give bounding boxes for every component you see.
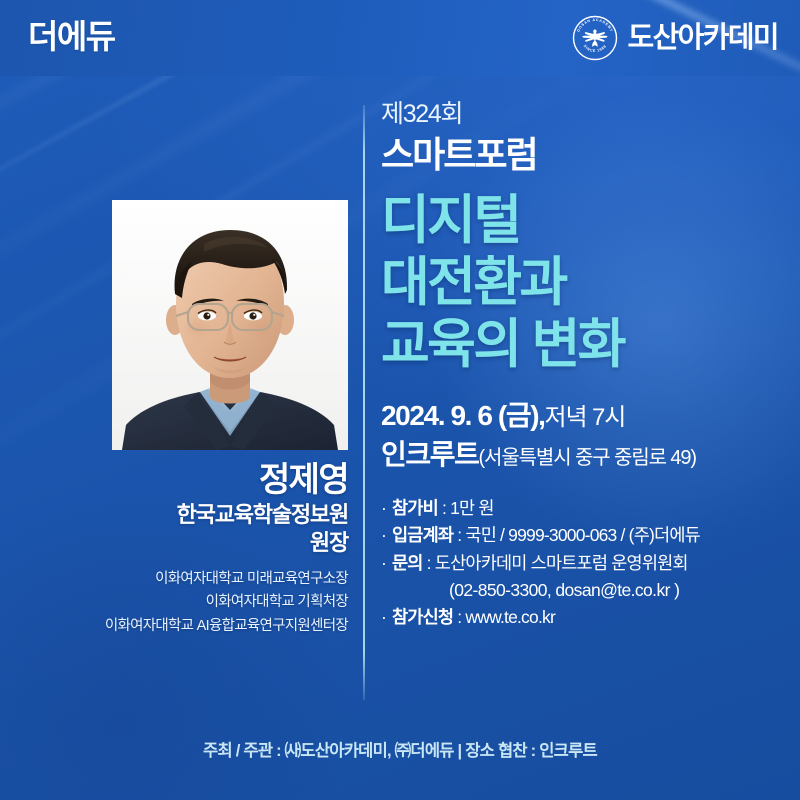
detail-separator: : [438,498,450,518]
detail-separator: : [423,553,435,573]
column-divider [363,105,365,700]
speaker-role: 원장 [8,529,348,557]
speaker-organization: 한국교육학술정보원 [8,501,348,529]
detail-value: 1만 원 [450,498,494,518]
svg-text:SINCE 1988: SINCE 1988 [582,44,607,53]
poster-header: 더에듀 DOSAN ACADEMY [0,0,800,76]
poster-footer: 주최 / 주관 : ㈔도산아카데미, ㈜더에듀 | 장소 협찬 : 인크루트 [0,704,800,800]
bullet-icon: · [381,550,392,577]
event-date: 2024. 9. 6 (금), [381,400,545,431]
venue-address: (서울특별시 중구 중림로 49) [478,447,696,469]
brand-logo-dosan-academy: DOSAN ACADEMY SINCE 1988 도산아카데미 [571,14,778,62]
headline-line: 교육의 변화 [381,314,791,376]
speaker-column: 정제영 한국교육학술정보원 원장 이화여자대학교 미래교육연구소장 이화여자대학… [0,90,362,705]
detail-separator: : [453,607,465,627]
headline-line: 디지털 [381,190,791,252]
detail-value: 도산아카데미 스마트포럼 운영위원회 [435,553,688,573]
detail-label: 입금계좌 [392,525,453,545]
bullet-icon: · [381,495,392,522]
event-column: 제324회 스마트포럼 디지털 대전환과 교육의 변화 2024. 9. 6 (… [381,100,791,632]
bullet-icon: · [381,604,392,631]
forum-name: 스마트포럼 [381,135,791,175]
detail-text: 입금계좌 : 국민 / 9999-3000-063 / (주)더에듀 [392,522,791,549]
credential-item: 이화여자대학교 미래교육연구소장 [8,568,348,591]
speaker-info: 정제영 한국교육학술정보원 원장 [8,462,348,556]
speaker-name: 정제영 [8,462,348,499]
detail-label: 참가비 [392,498,438,518]
credential-item: 이화여자대학교 AI융합교육연구지원센터장 [8,615,348,638]
event-details-list: · 참가비 : 1만 원 · 입금계좌 : 국민 / 9999-3000-063… [381,495,791,631]
speaker-credentials: 이화여자대학교 미래교육연구소장 이화여자대학교 기획처장 이화여자대학교 AI… [8,568,348,638]
detail-contact-line: (02-850-3300, dosan@te.co.kr ) [381,577,791,604]
detail-label: 문의 [392,553,423,573]
event-venue: 인크루트(서울특별시 중구 중림로 49) [381,437,791,473]
detail-text: 문의 : 도산아카데미 스마트포럼 운영위원회 [392,550,791,577]
brand-logo-theedu: 더에듀 [28,20,115,53]
dove-emblem-icon: DOSAN ACADEMY SINCE 1988 [571,14,619,62]
event-datetime: 2024. 9. 6 (금),저녁 7시 [381,398,791,434]
credential-item: 이화여자대학교 기획처장 [8,591,348,614]
detail-label: 참가신청 [392,607,453,627]
detail-value[interactable]: www.te.co.kr [465,607,555,627]
detail-value: 국민 / 9999-3000-063 / (주)더에듀 [465,525,700,545]
brand-label-dosan-academy: 도산아카데미 [628,24,778,53]
forum-edition: 제324회 [381,100,791,129]
detail-text: 참가신청 : www.te.co.kr [392,604,791,631]
detail-item-account: · 입금계좌 : 국민 / 9999-3000-063 / (주)더에듀 [381,522,791,549]
footer-credits: 주최 / 주관 : ㈔도산아카데미, ㈜더에듀 | 장소 협찬 : 인크루트 [203,741,597,762]
event-headline: 디지털 대전환과 교육의 변화 [381,190,791,376]
speaker-photo [112,200,348,450]
detail-item-inquiry: · 문의 : 도산아카데미 스마트포럼 운영위원회 [381,550,791,577]
detail-item-fee: · 참가비 : 1만 원 [381,495,791,522]
event-time: 저녁 7시 [545,404,626,431]
detail-item-registration: · 참가신청 : www.te.co.kr [381,604,791,631]
detail-separator: : [453,525,465,545]
venue-name: 인크루트 [381,439,478,470]
detail-text: 참가비 : 1만 원 [392,495,791,522]
bullet-icon: · [381,522,392,549]
headline-line: 대전환과 [381,252,791,314]
event-poster: 더에듀 DOSAN ACADEMY [0,0,800,800]
